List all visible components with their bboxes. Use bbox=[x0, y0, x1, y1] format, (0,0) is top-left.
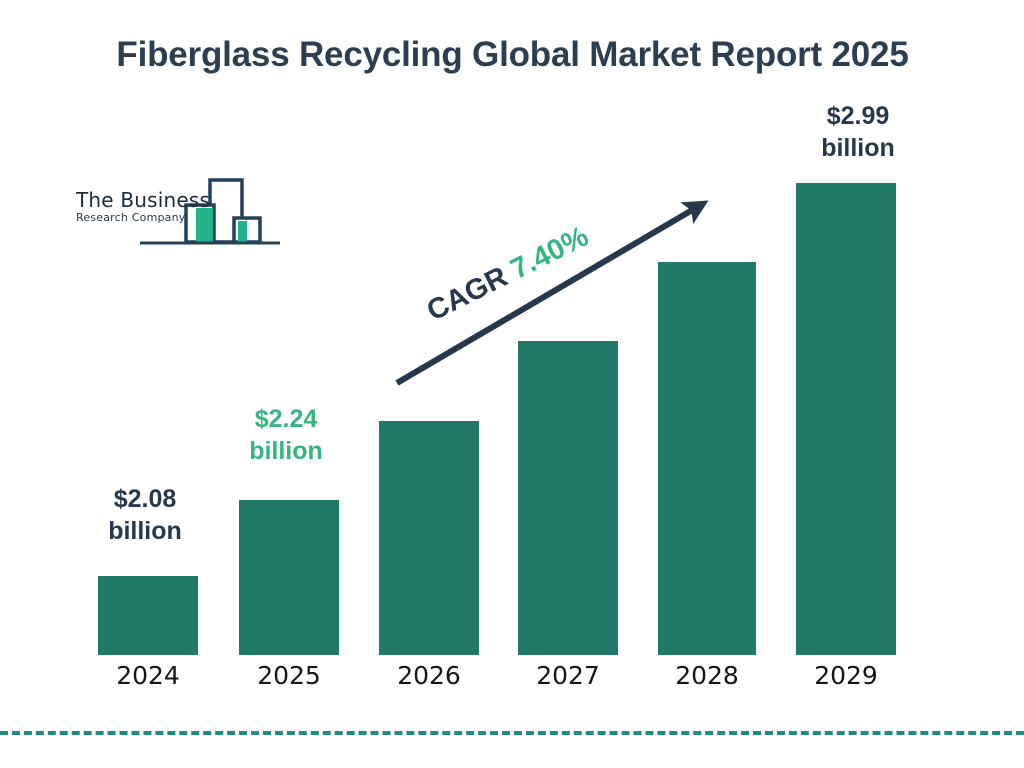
bar-2026[interactable] bbox=[379, 421, 479, 655]
logo-wordmark: The Business Research Company bbox=[76, 190, 211, 225]
value-label-2029-unit: billion bbox=[783, 132, 933, 164]
cagr-label: CAGR bbox=[422, 261, 513, 328]
xtick-2026: 2026 bbox=[369, 663, 489, 688]
logo-line-2: Research Company bbox=[76, 211, 211, 225]
footer-divider bbox=[0, 731, 1024, 735]
bar-2024[interactable] bbox=[98, 576, 198, 655]
bar-2027[interactable] bbox=[518, 341, 618, 655]
bar-2028[interactable] bbox=[658, 262, 756, 655]
xtick-2024: 2024 bbox=[88, 663, 208, 688]
xtick-2025: 2025 bbox=[229, 663, 349, 688]
xtick-2028: 2028 bbox=[647, 663, 767, 688]
value-label-2029: $2.99 billion bbox=[783, 100, 933, 164]
cagr-value: 7.40% bbox=[506, 221, 594, 286]
value-label-2025-amount: $2.24 bbox=[211, 403, 361, 435]
xtick-2029: 2029 bbox=[786, 663, 906, 688]
value-label-2024: $2.08 billion bbox=[70, 483, 220, 547]
page-title: Fiberglass Recycling Global Market Repor… bbox=[85, 34, 940, 77]
value-label-2024-amount: $2.08 bbox=[70, 483, 220, 515]
chart-canvas: Fiberglass Recycling Global Market Repor… bbox=[0, 0, 1024, 768]
bar-2025[interactable] bbox=[239, 500, 339, 655]
value-label-2025-unit: billion bbox=[211, 435, 361, 467]
value-label-2024-unit: billion bbox=[70, 515, 220, 547]
value-label-2025: $2.24 billion bbox=[211, 403, 361, 467]
xtick-2027: 2027 bbox=[508, 663, 628, 688]
value-label-2029-amount: $2.99 bbox=[783, 100, 933, 132]
company-logo: The Business Research Company bbox=[74, 176, 286, 254]
cagr-annotation: CAGR 7.40% bbox=[402, 211, 614, 339]
bar-2029[interactable] bbox=[796, 183, 896, 655]
logo-line-1: The Business bbox=[76, 190, 211, 211]
